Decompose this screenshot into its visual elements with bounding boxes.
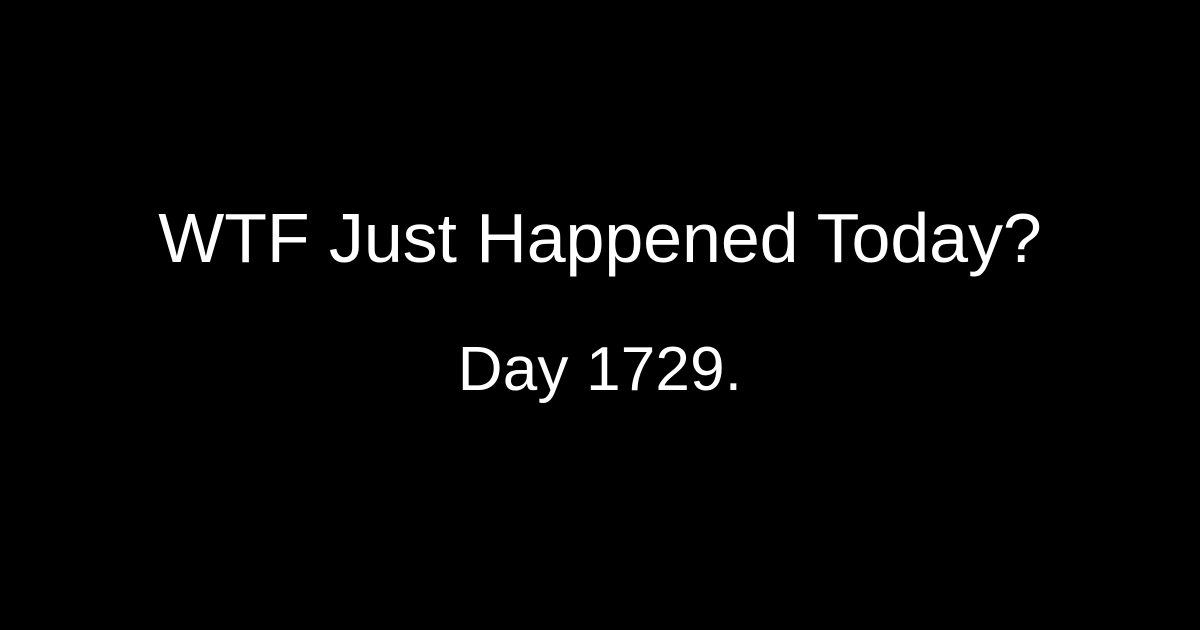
page-title: WTF Just Happened Today? [158, 203, 1041, 273]
text-stack: WTF Just Happened Today? Day 1729. [0, 0, 1200, 630]
share-card: WTF Just Happened Today? Day 1729. [0, 0, 1200, 630]
day-counter-label: Day 1729. [458, 339, 742, 401]
